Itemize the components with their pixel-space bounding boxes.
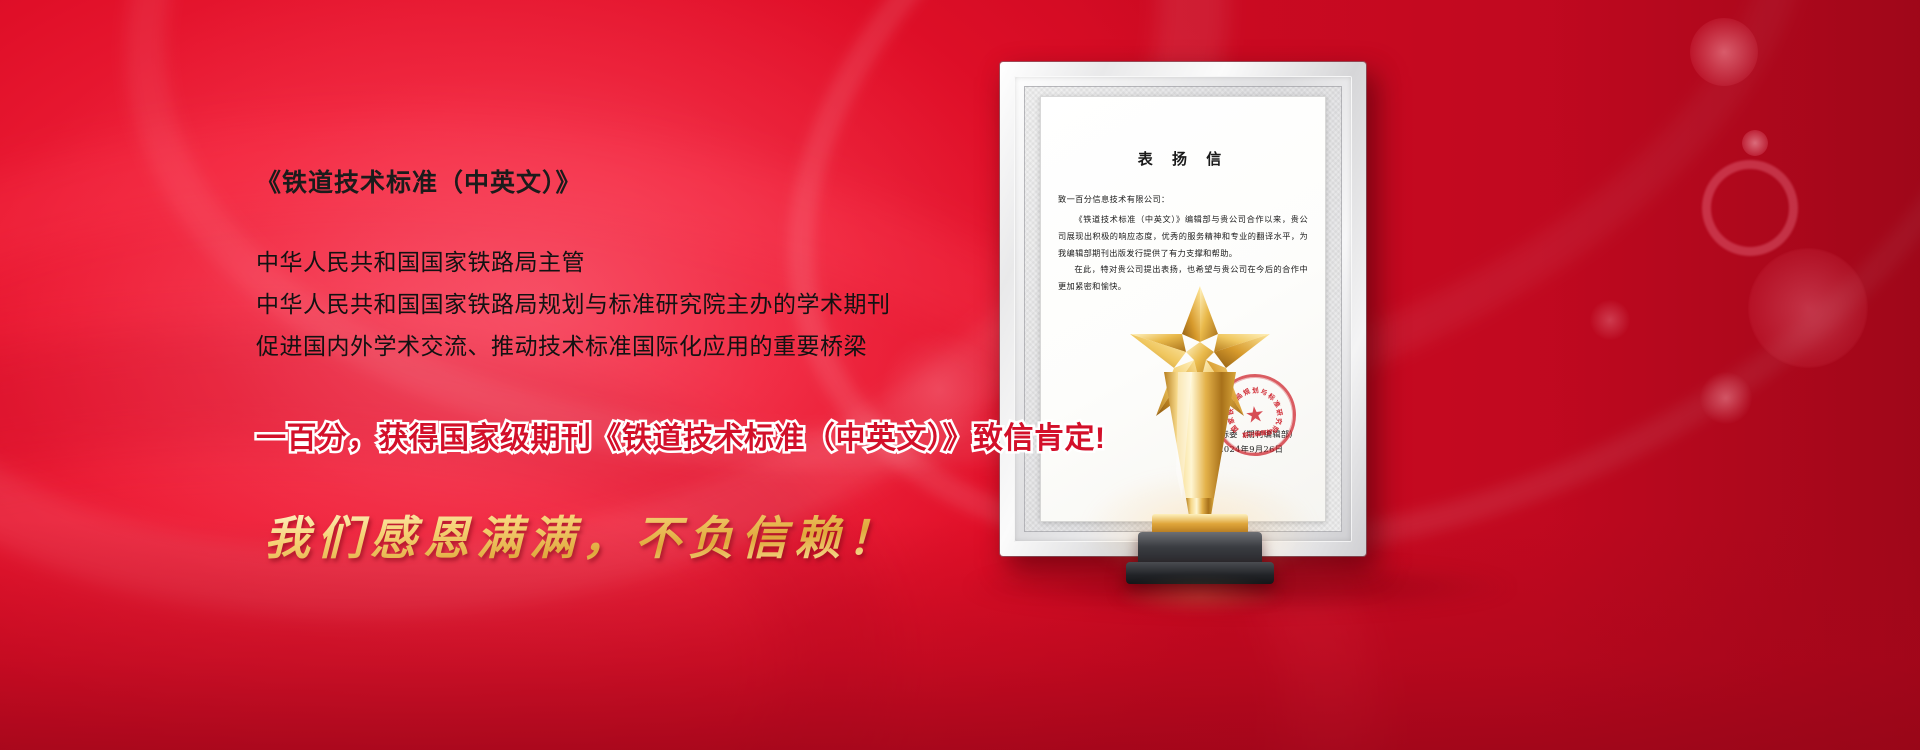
headline: 一百分，获得国家级期刊《铁道技术标准（中英文）》致信肯定! — [256, 420, 1256, 458]
description-line-1: 中华人民共和国国家铁路局主管 — [256, 242, 1256, 284]
banner-root: 《铁道技术标准（中英文）》 中华人民共和国国家铁路局主管 中华人民共和国国家铁路… — [0, 0, 1920, 750]
certificate-title: 表 扬 信 — [1058, 148, 1308, 169]
journal-title: 《铁道技术标准（中英文）》 — [256, 168, 1256, 198]
gold-star-trophy — [1108, 300, 1288, 590]
description-line-3: 促进国内外学术交流、推动技术标准国际化应用的重要桥梁 — [256, 326, 1256, 368]
trophy-cup — [1148, 372, 1252, 532]
description-line-2: 中华人民共和国国家铁路局规划与标准研究院主办的学术期刊 — [256, 284, 1256, 326]
trophy-reflection — [1114, 576, 1286, 616]
